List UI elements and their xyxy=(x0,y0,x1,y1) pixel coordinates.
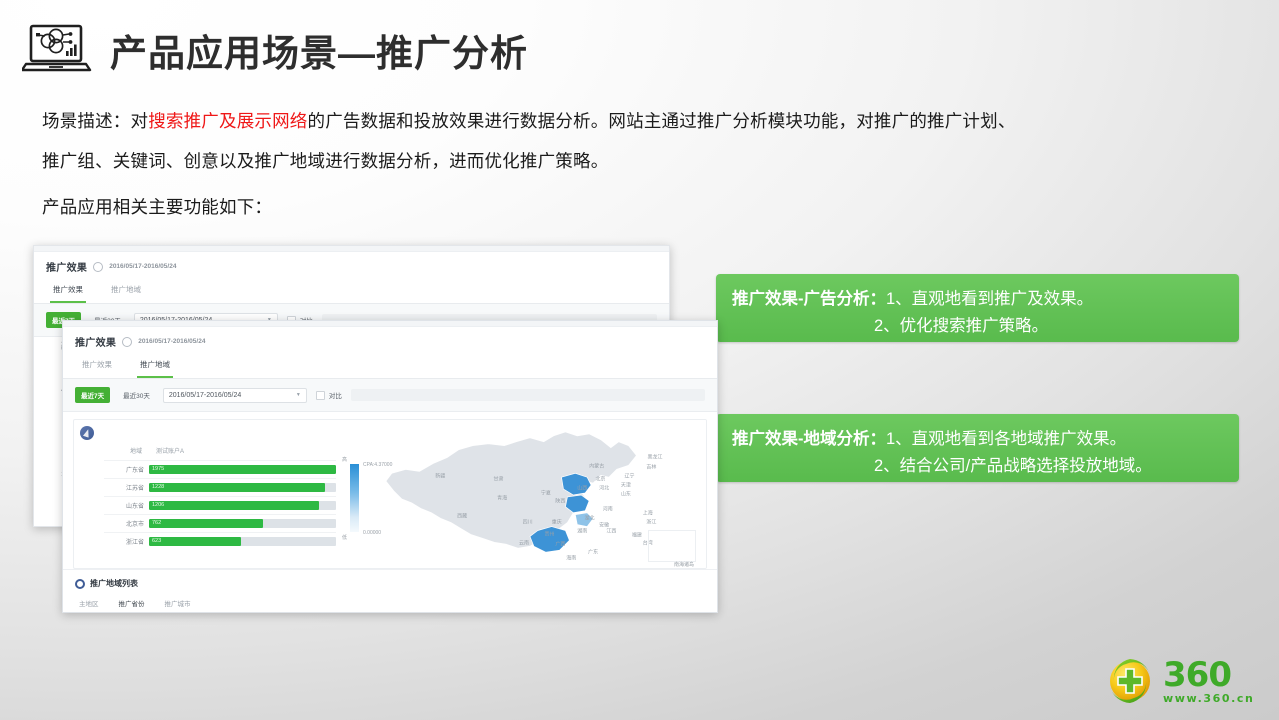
south-china-sea-caption: 南海诸岛 xyxy=(674,561,694,568)
geo-bar-label-2: 山东省 xyxy=(104,501,144,510)
laptop-analytics-icon xyxy=(22,22,96,78)
page-title: 产品应用场景—推广分析 xyxy=(110,23,528,77)
front-filter-recent-30-days[interactable]: 最近30天 xyxy=(119,387,154,403)
geo-bar-label-4: 浙江省 xyxy=(104,537,144,546)
table-tab-city[interactable]: 推广城市 xyxy=(163,594,193,613)
callout-ad-analysis: 推广效果-广告分析：1、直观地看到推广及效果。 2、优化搜索推广策略。 xyxy=(716,274,1239,342)
back-header: 推广效果 2016/05/17-2016/05/24 xyxy=(34,252,669,279)
geo-bar-fill-2 xyxy=(149,501,319,510)
front-compare-checkbox[interactable]: 对比 xyxy=(316,390,342,400)
geo-bar-row: 广东省 1975 xyxy=(104,460,336,478)
front-header-date: 2016/05/17-2016/05/24 xyxy=(138,338,205,345)
back-tabs: 推广效果 推广地域 xyxy=(34,279,669,304)
checkbox-icon xyxy=(316,391,325,400)
south-china-sea-inset xyxy=(648,530,696,562)
back-tab-geo[interactable]: 推广地域 xyxy=(108,279,144,303)
map-label-neimenggu: 内蒙古 xyxy=(589,462,604,469)
slide-title-row: 产品应用场景—推广分析 xyxy=(22,22,528,78)
geo-table-header: 推广地域列表 xyxy=(63,569,717,594)
front-date-range-select[interactable]: 2016/05/17-2016/05/24 ▼ xyxy=(163,388,307,403)
map-label-jiangxi: 江西 xyxy=(606,528,616,535)
geo-bar-label-1: 江苏省 xyxy=(104,483,144,492)
map-label-heilongjiang: 黑龙江 xyxy=(648,454,663,461)
map-label-fujian: 福建 xyxy=(632,532,642,539)
callout-ad-heading: 推广效果-广告分析： xyxy=(732,290,886,308)
geo-bar-header-metric: 测试账户A xyxy=(156,446,184,455)
map-label-yunnan: 云南 xyxy=(519,539,529,546)
brand-url: www.360.cn xyxy=(1163,693,1254,704)
map-label-shandong: 山东 xyxy=(621,491,631,498)
geo-bar-value-1: 1228 xyxy=(152,484,164,490)
brand-name: 360 xyxy=(1163,658,1254,692)
front-filter-bar: 最近7天 最近30天 2016/05/17-2016/05/24 ▼ 对比 xyxy=(63,379,717,412)
front-date-range-value: 2016/05/17-2016/05/24 xyxy=(169,392,241,399)
geo-bar-row: 北京市 762 xyxy=(104,514,336,532)
map-label-guangxi: 广西 xyxy=(555,541,565,548)
info-icon xyxy=(93,262,103,272)
map-label-shanxi: 山西 xyxy=(577,485,587,492)
geo-bar-fill-4 xyxy=(149,537,241,546)
screenshot-geo-analysis: 推广效果 2016/05/17-2016/05/24 推广效果 推广地域 最近7… xyxy=(62,320,718,613)
map-label-qinghai: 青海 xyxy=(497,495,507,502)
geo-bar-row: 江苏省 1228 xyxy=(104,478,336,496)
brand-logo-text: 360 www.360.cn xyxy=(1163,658,1254,704)
geo-bar-fill-3 xyxy=(149,519,263,528)
front-compare-label: 对比 xyxy=(329,390,342,400)
callout-ad-item-2: 2、优化搜索推广策略。 xyxy=(732,313,1225,340)
china-heatmap[interactable]: 高 低 CPA:4.37000 0.00000 新疆 甘肃 青海 西藏 宁夏 陕… xyxy=(342,420,706,568)
geo-table-title: 推广地域列表 xyxy=(90,578,138,589)
description-line-2: 推广组、关键词、创意以及推广地域进行数据分析，进而优化推广策略。 xyxy=(42,148,608,175)
geo-bar-track-1: 1228 xyxy=(149,483,336,492)
geo-bar-row: 浙江省 623 xyxy=(104,532,336,550)
geo-bar-track-3: 762 xyxy=(149,519,336,528)
geo-bar-chart-header: 地域 测试账户A xyxy=(104,446,336,460)
slide-root: 产品应用场景—推广分析 场景描述：对搜索推广及展示网络的广告数据和投放效果进行数… xyxy=(0,0,1279,720)
chevron-down-icon: ▼ xyxy=(296,392,301,398)
map-label-henan: 河南 xyxy=(603,505,613,512)
map-legend-high-label: 高 xyxy=(342,456,347,463)
map-label-gansu: 甘肃 xyxy=(494,476,504,483)
geo-bar-track-4: 623 xyxy=(149,537,336,546)
map-label-sichuan: 四川 xyxy=(523,519,533,526)
map-label-chongqing: 重庆 xyxy=(552,519,562,526)
front-compare-field[interactable] xyxy=(351,389,705,401)
map-label-xizang: 西藏 xyxy=(457,513,467,520)
map-label-ningxia: 宁夏 xyxy=(541,489,551,496)
table-tab-main-region[interactable]: 主地区 xyxy=(77,594,101,613)
callout-geo-item-2: 2、结合公司/产品战略选择投放地域。 xyxy=(732,453,1225,480)
geo-bar-label-3: 北京市 xyxy=(104,519,144,528)
front-header: 推广效果 2016/05/17-2016/05/24 xyxy=(63,327,717,354)
table-tab-province[interactable]: 推广省份 xyxy=(117,594,147,613)
map-label-tianjin: 天津 xyxy=(621,482,631,489)
geo-bar-row: 山东省 1206 xyxy=(104,496,336,514)
front-filter-recent-7-days[interactable]: 最近7天 xyxy=(75,387,110,403)
map-label-jilin: 吉林 xyxy=(646,464,656,471)
info-icon xyxy=(122,337,132,347)
map-label-hebei: 河北 xyxy=(599,485,609,492)
map-label-liaoning: 辽宁 xyxy=(625,473,635,480)
front-tabs: 推广效果 推广地域 xyxy=(63,354,717,379)
front-header-title: 推广效果 xyxy=(75,334,116,349)
description-line-1-suffix: 的广告数据和投放效果进行数据分析。网站主通过推广分析模块功能，对推广的推广计划、 xyxy=(308,111,1016,131)
map-legend-min-value: 0.00000 xyxy=(363,530,381,536)
description-highlight: 搜索推广及展示网络 xyxy=(148,111,307,131)
geo-bar-label-0: 广东省 xyxy=(104,465,144,474)
map-label-shaanxi: 陕西 xyxy=(555,498,565,505)
back-header-date: 2016/05/17-2016/05/24 xyxy=(109,263,176,270)
geo-bar-header-region: 地域 xyxy=(130,446,142,455)
callout-ad-item-1: 1、直观地看到推广及效果。 xyxy=(886,290,1093,308)
map-label-xinjiang: 新疆 xyxy=(435,473,445,480)
front-tab-ad-effect[interactable]: 推广效果 xyxy=(79,354,115,378)
map-label-zhejiang: 浙江 xyxy=(646,519,656,526)
callout-geo-line-1: 推广效果-地域分析：1、直观地看到各地域推广效果。 xyxy=(732,426,1225,453)
map-label-hainan: 海南 xyxy=(566,554,576,561)
map-label-hunan: 湖南 xyxy=(577,528,587,535)
back-header-title: 推广效果 xyxy=(46,259,87,274)
map-label-hubei: 湖北 xyxy=(585,514,595,521)
description-line-3: 产品应用相关主要功能如下： xyxy=(42,194,272,221)
map-legend-gradient xyxy=(350,464,359,532)
callout-geo-item-1: 1、直观地看到各地域推广效果。 xyxy=(886,430,1126,448)
geo-bar-track-0: 1975 xyxy=(149,465,336,474)
callout-ad-line-1: 推广效果-广告分析：1、直观地看到推广及效果。 xyxy=(732,286,1225,313)
geo-panel: 展现量 ▼ 地域 测试账户A 广东省 1975 江苏省 xyxy=(73,419,707,569)
geo-bar-value-0: 1975 xyxy=(152,466,164,472)
table-bullet-icon xyxy=(75,579,85,589)
brand-logo: 360 www.360.cn xyxy=(1104,655,1254,707)
geo-bar-value-3: 762 xyxy=(152,520,161,526)
geo-bar-track-2: 1206 xyxy=(149,501,336,510)
compass-icon xyxy=(80,426,94,440)
callout-geo-heading: 推广效果-地域分析： xyxy=(732,430,886,448)
description-line-1-prefix: 场景描述：对 xyxy=(42,111,148,131)
geo-bar-value-2: 1206 xyxy=(152,502,164,508)
map-label-guangdong: 广东 xyxy=(588,548,598,555)
geo-bar-value-4: 623 xyxy=(152,538,161,544)
360-shield-icon xyxy=(1104,655,1156,707)
geo-table-tabs: 主地区 推广省份 推广城市 xyxy=(63,594,717,613)
map-label-guizhou: 贵州 xyxy=(544,530,554,537)
geo-bar-fill-1 xyxy=(149,483,325,492)
back-tab-ad-effect[interactable]: 推广效果 xyxy=(50,279,86,303)
geo-bar-fill-0 xyxy=(149,465,336,474)
front-tab-geo[interactable]: 推广地域 xyxy=(137,354,173,378)
map-legend-max-value: CPA:4.37000 xyxy=(363,462,392,468)
geo-bar-chart: 地域 测试账户A 广东省 1975 江苏省 1228 xyxy=(74,420,342,568)
description-line-1: 场景描述：对搜索推广及展示网络的广告数据和投放效果进行数据分析。网站主通过推广分… xyxy=(42,108,1016,135)
callout-geo-analysis: 推广效果-地域分析：1、直观地看到各地域推广效果。 2、结合公司/产品战略选择投… xyxy=(716,414,1239,482)
map-legend-low-label: 低 xyxy=(342,534,347,541)
map-label-beijing: 北京 xyxy=(595,476,605,483)
map-label-shanghai: 上海 xyxy=(643,510,653,517)
